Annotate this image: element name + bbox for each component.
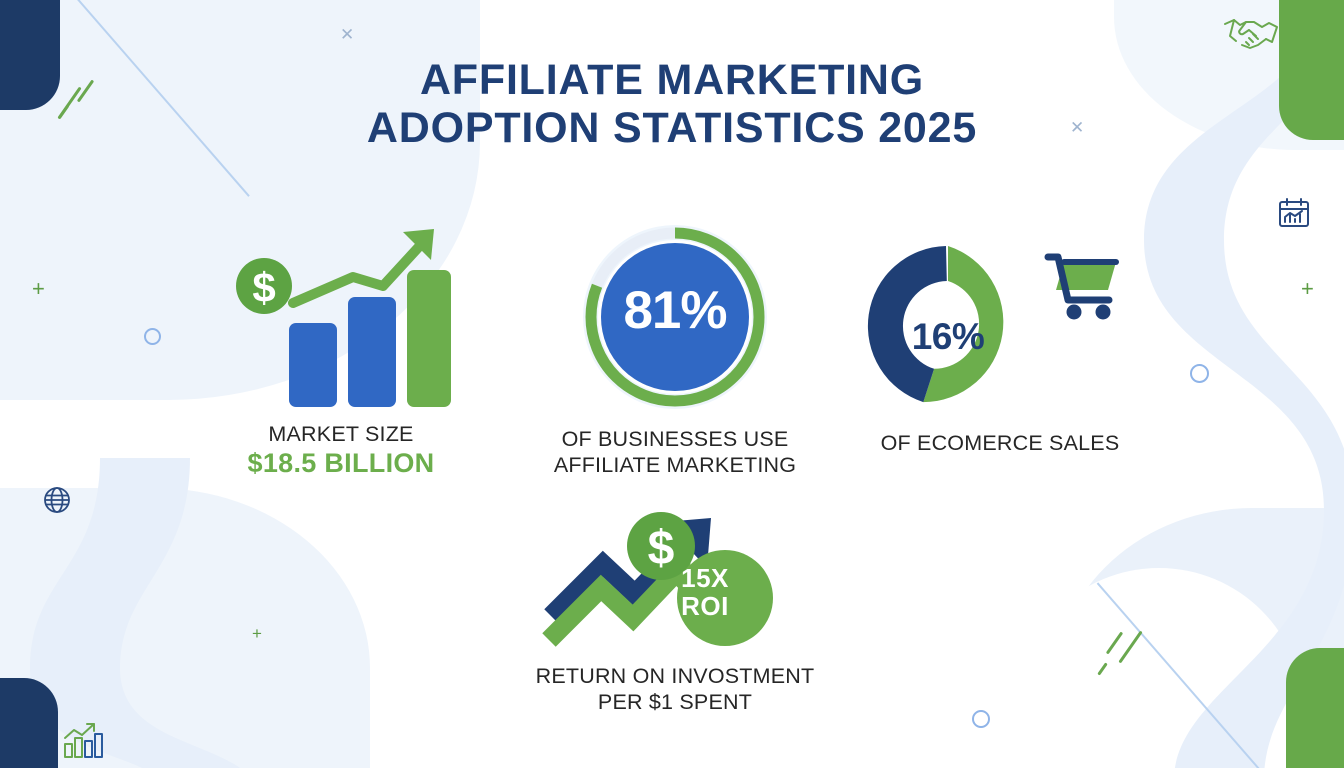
stat-label-businesses-line-1: OF BUSINESSES USE bbox=[525, 426, 825, 452]
svg-text:$: $ bbox=[252, 264, 275, 311]
bar-2 bbox=[348, 297, 396, 407]
content-layer: AFFILIATE MARKETING ADOPTION STATISTICS … bbox=[0, 0, 1344, 768]
bar-1 bbox=[289, 323, 337, 407]
stat-label-market-size: MARKET SIZE bbox=[196, 421, 486, 447]
dual-arrow-growth-icon: $ 15X ROI bbox=[505, 512, 845, 647]
roi-badge-line-1: 15X bbox=[653, 564, 757, 592]
infographic-canvas: + + + ✕ ✕ bbox=[0, 0, 1344, 768]
bar-3 bbox=[407, 270, 451, 407]
donut-chart-icon: 16% bbox=[860, 238, 1140, 418]
stat-label-roi-line-2: PER $1 SPENT bbox=[505, 689, 845, 715]
roi-badge-line-2: ROI bbox=[653, 592, 757, 620]
stat-card-ecommerce-sales: 16% OF ECOMERCE SALES bbox=[860, 238, 1140, 456]
stat-label-ecommerce-sales: OF ECOMERCE SALES bbox=[860, 430, 1140, 456]
stat-value-market-size: $18.5 BILLION bbox=[196, 447, 486, 479]
title-line-2: ADOPTION STATISTICS 2025 bbox=[0, 104, 1344, 152]
stat-value-ecommerce-sales: 16% bbox=[756, 316, 1140, 358]
bar-chart-growth-icon: $ bbox=[196, 222, 486, 407]
stat-label-roi-line-1: RETURN ON INVOSTMENT bbox=[505, 663, 845, 689]
dollar-badge-icon: $ bbox=[236, 258, 292, 314]
title-line-1: AFFILIATE MARKETING bbox=[0, 56, 1344, 104]
roi-badge-label: 15X ROI bbox=[653, 564, 757, 620]
shopping-cart-icon bbox=[1048, 257, 1116, 320]
stat-label-businesses-line-2: AFFILIATE MARKETING bbox=[525, 452, 825, 478]
stat-card-market-size: $ MARKET SIZE $18.5 BILLION bbox=[196, 222, 486, 479]
page-title: AFFILIATE MARKETING ADOPTION STATISTICS … bbox=[0, 56, 1344, 152]
stat-card-return-on-investment: $ 15X ROI RETURN ON INVOSTMENT PER $1 SP… bbox=[505, 512, 845, 715]
